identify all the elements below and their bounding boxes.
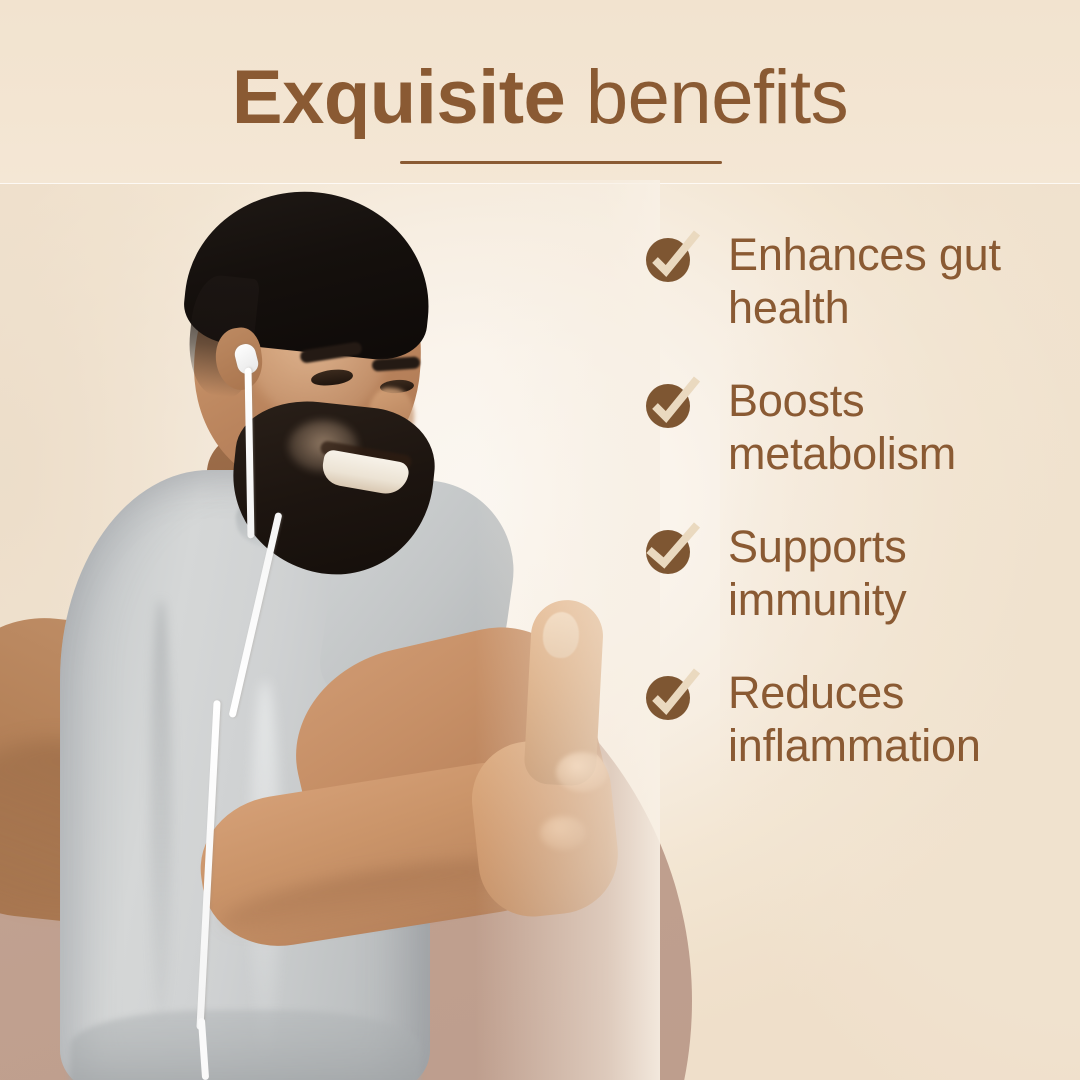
list-item: Enhances gut health	[644, 228, 1064, 356]
check-circle-icon	[644, 522, 706, 578]
list-item-label: Reduces inflammation	[728, 666, 1064, 772]
poster-header: Exquisite benefits	[0, 0, 1080, 183]
page-title-strong: Exquisite	[232, 55, 565, 140]
knuckle-highlight	[556, 752, 608, 792]
check-circle-icon	[644, 668, 706, 724]
list-item-label: Boosts metabolism	[728, 374, 1064, 480]
check-circle-icon	[644, 230, 706, 286]
benefits-poster: Exquisite benefits Enhances gut health B…	[0, 0, 1080, 1080]
t-shirt-hem	[70, 1010, 420, 1080]
subject-photo	[0, 180, 660, 1080]
list-item-label: Enhances gut health	[728, 228, 1064, 334]
knuckle-highlight	[540, 816, 586, 850]
t-shirt-fold	[150, 600, 172, 1020]
page-title: Exquisite benefits	[0, 52, 1080, 144]
list-item: Boosts metabolism	[644, 374, 1064, 502]
page-title-light: benefits	[565, 55, 848, 140]
title-underline	[400, 161, 722, 164]
benefits-list: Enhances gut health Boosts metabolism Su…	[644, 228, 1064, 794]
list-item-label: Supports immunity	[728, 520, 1064, 626]
check-circle-icon	[644, 376, 706, 432]
list-item: Supports immunity	[644, 520, 1064, 648]
list-item: Reduces inflammation	[644, 666, 1064, 794]
